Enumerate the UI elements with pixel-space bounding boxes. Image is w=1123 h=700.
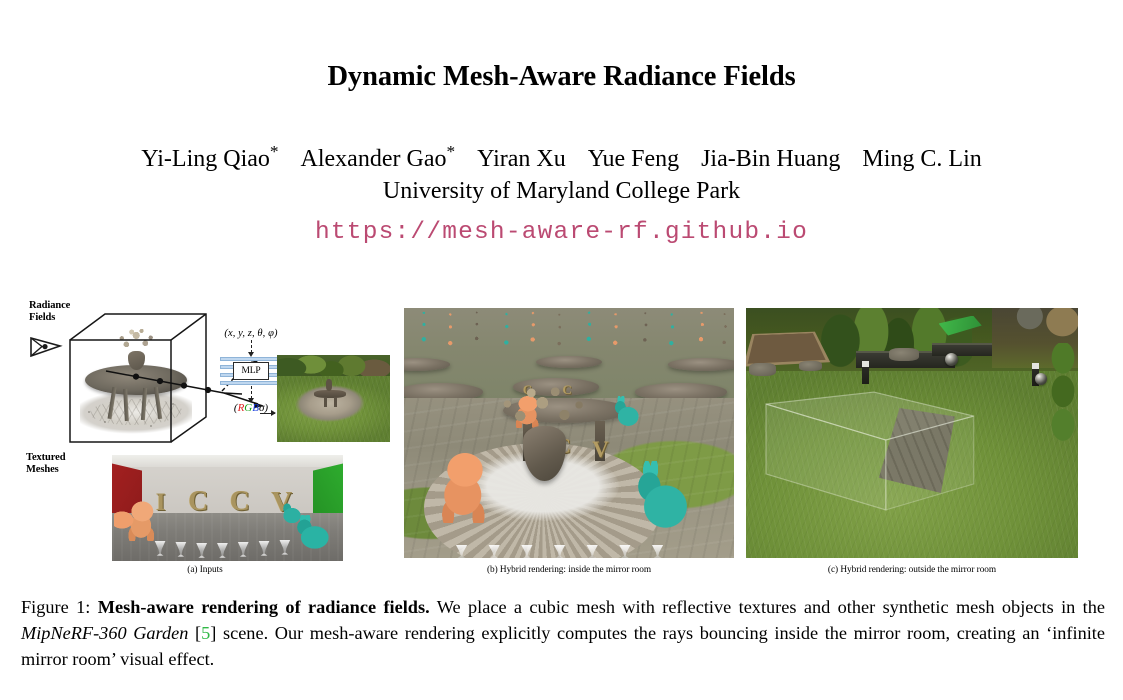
arrow-output-to-render bbox=[260, 413, 275, 414]
subcaption-c: (c) Hybrid rendering: outside the mirror… bbox=[746, 565, 1078, 575]
caption-citation-close: ] bbox=[210, 623, 223, 643]
garden-light-0 bbox=[862, 366, 869, 384]
camera-frustum-icon bbox=[30, 332, 64, 362]
author-1-star: * bbox=[446, 142, 455, 161]
textured-meshes-label: Textured Meshes bbox=[26, 452, 65, 476]
nerf-input-coords: (x, y, z, θ, φ) bbox=[205, 328, 297, 339]
mirror-glass-row bbox=[450, 528, 668, 558]
page-title: Dynamic Mesh-Aware Radiance Fields bbox=[0, 61, 1123, 93]
mesh-letter-1: C bbox=[188, 488, 208, 516]
figure-1: Radiance Fields bbox=[20, 300, 1103, 585]
subcaption-b: (b) Hybrid rendering: inside the mirror … bbox=[404, 565, 734, 575]
caption-bold-lead: Mesh-aware rendering of radiance fields. bbox=[98, 597, 430, 617]
mirror-letter-front-1: V bbox=[592, 438, 609, 461]
author-5: Ming C. Lin bbox=[851, 146, 992, 172]
mirror-table-far-4 bbox=[536, 356, 602, 369]
mlp-box: MLP bbox=[220, 357, 282, 385]
author-1: Alexander Gao* bbox=[290, 146, 467, 172]
mirror-bunny-mid bbox=[612, 396, 642, 426]
author-0-star: * bbox=[270, 142, 279, 161]
arrow-mlp-to-output bbox=[251, 386, 252, 399]
author-list: Yi-Ling Qiao*Alexander Gao*Yiran XuYue F… bbox=[0, 141, 1123, 207]
paper-page: { "paper": { "title": "Dynamic Mesh-Awar… bbox=[0, 0, 1123, 700]
caption-citation-open: [ bbox=[188, 623, 201, 643]
caption-body-1: We place a cubic mesh with reflective te… bbox=[430, 597, 1105, 617]
caption-scene-name: MipNeRF-360 Garden bbox=[21, 623, 188, 643]
panel-a-inputs: Radiance Fields bbox=[20, 300, 390, 585]
panel-c-outside-mirror-room bbox=[746, 308, 1078, 558]
radiance-field-cube bbox=[64, 307, 209, 459]
mirror-table-far-5 bbox=[668, 358, 734, 371]
arrow-input-to-mlp bbox=[251, 340, 252, 353]
subcaption-row: (a) Inputs (b) Hybrid rendering: inside … bbox=[20, 565, 1103, 581]
affiliation: University of Maryland College Park bbox=[0, 176, 1123, 208]
panel-b-inside-mirror-room: C C C V bbox=[404, 308, 734, 558]
armadillo-mesh-2 bbox=[114, 511, 134, 529]
project-url-link[interactable]: https://mesh-aware-rf.github.io bbox=[0, 219, 1123, 246]
caption-figure-number: Figure 1: bbox=[21, 597, 90, 617]
subcaption-a: (a) Inputs bbox=[20, 565, 390, 575]
reflective-sphere-1 bbox=[1035, 373, 1047, 385]
mirror-armadillo-front bbox=[437, 453, 493, 523]
author-3: Yue Feng bbox=[577, 146, 690, 172]
textured-mesh-render: I C C V bbox=[112, 455, 343, 561]
author-2: Yiran Xu bbox=[466, 146, 577, 172]
bunny-mesh-2 bbox=[280, 501, 304, 523]
mesh-letter-2: C bbox=[230, 488, 250, 516]
mirror-bunny-front bbox=[632, 461, 695, 529]
render-garden-thumbnail bbox=[277, 355, 390, 442]
caption-citation-number: 5 bbox=[201, 623, 210, 643]
author-4: Jia-Bin Huang bbox=[690, 146, 851, 172]
planter-box-1 bbox=[932, 343, 992, 356]
figure-caption: Figure 1: Mesh-aware rendering of radian… bbox=[21, 595, 1105, 673]
reflective-cube-outline bbox=[756, 388, 982, 513]
mlp-label: MLP bbox=[233, 362, 269, 380]
author-0: Yi-Ling Qiao* bbox=[130, 146, 289, 172]
